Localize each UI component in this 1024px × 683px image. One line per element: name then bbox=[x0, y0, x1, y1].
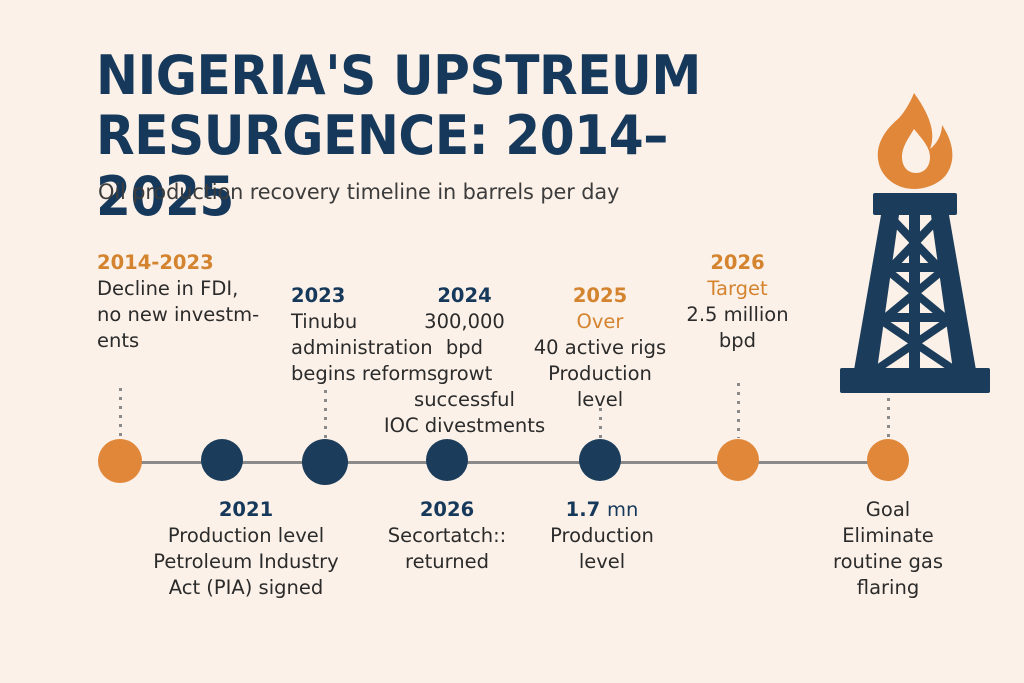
flame-shape bbox=[878, 93, 953, 189]
label-2024-year: 2024 bbox=[382, 283, 547, 309]
label-2025-line-2: Production bbox=[524, 361, 676, 387]
page-subtitle: Oil production recovery timeline in barr… bbox=[98, 180, 619, 205]
dot-2026[interactable] bbox=[717, 439, 759, 481]
dot-2025[interactable] bbox=[579, 439, 621, 481]
label-2026-target-subhead: Target bbox=[671, 276, 804, 302]
label-2021-line-2: Petroleum Industry bbox=[133, 549, 359, 575]
connector-2014-2023 bbox=[119, 388, 122, 438]
label-2025: 2025 Over 40 active rigs Production leve… bbox=[524, 283, 676, 413]
label-2025-line-3: level bbox=[524, 387, 676, 413]
derrick-base bbox=[840, 368, 990, 393]
label-2021-line-1: Production level bbox=[133, 523, 359, 549]
dot-2023[interactable] bbox=[302, 439, 348, 485]
connector-goal bbox=[887, 398, 890, 438]
label-2024-line-5: IOC divestments bbox=[382, 413, 547, 439]
label-2014-2023-line-2: no new investm- bbox=[97, 302, 287, 328]
label-2026-sector-line-1: Secortatch:: bbox=[372, 523, 522, 549]
dot-2021[interactable] bbox=[201, 439, 243, 481]
label-2025-subhead: Over bbox=[524, 309, 676, 335]
label-2014-2023: 2014-2023 Decline in FDI, no new investm… bbox=[97, 250, 287, 354]
title-line-2: Resurgence: 2014–2025 bbox=[96, 104, 668, 227]
label-2024-line-1: 300,000 bbox=[382, 309, 547, 335]
infographic-canvas: Nigeria's Upstreum Resurgence: 2014–2025… bbox=[0, 0, 1024, 683]
connector-2026 bbox=[737, 383, 740, 438]
label-2026-sector-year: 2026 bbox=[372, 497, 522, 523]
derrick-cap bbox=[873, 193, 957, 215]
label-2024-line-4: successful bbox=[382, 387, 547, 413]
derrick-leg-right bbox=[931, 215, 976, 370]
label-goal-line-4: flaring bbox=[823, 575, 953, 601]
label-goal-line-2: Eliminate bbox=[823, 523, 953, 549]
label-1-7mn-unit: mn bbox=[607, 498, 638, 521]
label-2026-target-year: 2026 bbox=[671, 250, 804, 276]
derrick-leg-left bbox=[854, 215, 899, 370]
dot-2014-2023[interactable] bbox=[98, 439, 142, 483]
label-2021-year: 2021 bbox=[133, 497, 359, 523]
label-2024-line-3: growt bbox=[382, 361, 547, 387]
label-2014-2023-line-3: ents bbox=[97, 328, 287, 354]
connector-2023 bbox=[324, 390, 327, 438]
label-2026-sector-line-2: returned bbox=[372, 549, 522, 575]
label-2026-target: 2026 Target 2.5 million bpd bbox=[671, 250, 804, 354]
label-2021-line-3: Act (PIA) signed bbox=[133, 575, 359, 601]
label-2025-year: 2025 bbox=[524, 283, 676, 309]
label-goal-line-3: routine gas bbox=[823, 549, 953, 575]
label-2021: 2021 Production level Petroleum Industry… bbox=[133, 497, 359, 601]
label-2014-2023-year: 2014-2023 bbox=[97, 250, 287, 276]
label-goal: Goal Eliminate routine gas flaring bbox=[823, 497, 953, 601]
label-goal-line-1: Goal bbox=[823, 497, 953, 523]
dot-2024[interactable] bbox=[426, 439, 468, 481]
label-2026-sector: 2026 Secortatch:: returned bbox=[372, 497, 522, 575]
label-2024-line-2: bpd bbox=[382, 335, 547, 361]
label-2024: 2024 300,000 bpd growt successful IOC di… bbox=[382, 283, 547, 439]
label-1-7mn-value: 1.7 bbox=[566, 498, 601, 521]
label-2014-2023-line-1: Decline in FDI, bbox=[97, 276, 287, 302]
label-2026-target-line-1: 2.5 million bbox=[671, 302, 804, 328]
label-1-7mn-year: 1.7 mn bbox=[540, 497, 664, 523]
title-line-1: Nigeria's Upstreum bbox=[96, 44, 701, 107]
label-2026-target-line-2: bpd bbox=[671, 328, 804, 354]
dot-goal[interactable] bbox=[867, 439, 909, 481]
label-1-7mn: 1.7 mn Production level bbox=[540, 497, 664, 575]
oil-derrick-with-flame-icon bbox=[818, 85, 1018, 405]
label-2025-line-1: 40 active rigs bbox=[524, 335, 676, 361]
label-1-7mn-line-1: Production bbox=[540, 523, 664, 549]
label-1-7mn-line-2: level bbox=[540, 549, 664, 575]
